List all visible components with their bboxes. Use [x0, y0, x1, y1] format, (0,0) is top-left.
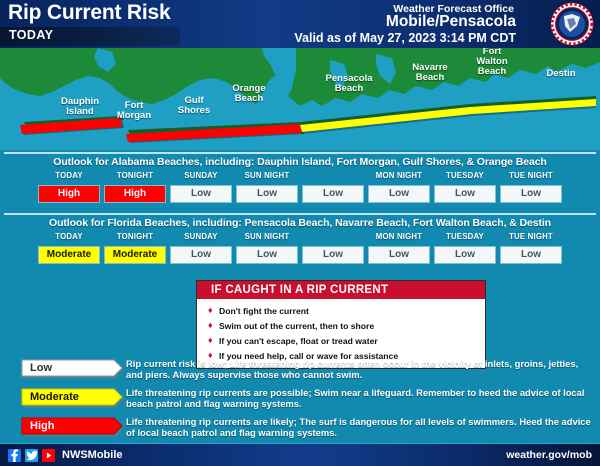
legend-description-moderate: Life threatening rip currents are possib… — [126, 387, 596, 410]
col-header: SUN NIGHT — [236, 170, 298, 183]
risk-cell: Low — [500, 246, 562, 264]
diamond-bullet-icon: ♦ — [208, 335, 213, 345]
facebook-icon[interactable] — [8, 449, 21, 462]
risk-cell: High — [104, 185, 166, 203]
outlook-alabama-values: High High Low Low Low Low Low Low — [38, 185, 562, 203]
period-label: TODAY — [9, 28, 53, 42]
legend-label-moderate: Moderate — [30, 390, 79, 404]
risk-cell: Low — [302, 246, 364, 264]
col-header: SUNDAY — [170, 231, 232, 244]
risk-cell: Low — [170, 185, 232, 203]
col-header: TUE NIGHT — [500, 170, 562, 183]
risk-cell: Moderate — [38, 246, 100, 264]
map-label-fort-walton-beach: Fort Walton Beach — [468, 48, 516, 77]
map-label-dauphin-island: Dauphin Island — [52, 97, 108, 117]
footer-bar: NWSMobile weather.gov/mob — [0, 443, 600, 466]
col-header-blank — [302, 170, 364, 183]
list-item-text: Swim out of the current, then to shore — [219, 321, 374, 331]
map-label-pensacola-beach: Pensacola Beach — [318, 74, 380, 94]
risk-cell: Low — [170, 246, 232, 264]
social-handle[interactable]: NWSMobile — [62, 449, 123, 461]
risk-cell: Low — [302, 185, 364, 203]
valid-timestamp: Valid as of May 27, 2023 3:14 PM CDT — [294, 31, 516, 45]
outlook-florida-headers: TODAY TONIGHT SUNDAY SUN NIGHT MON NIGHT… — [38, 231, 562, 244]
outlook-divider-top — [4, 152, 596, 154]
risk-legend: Low Rip current risk is low; Life threat… — [0, 357, 600, 443]
rip-current-risk-graphic: Rip Current Risk TODAY Weather Forecast … — [0, 0, 600, 466]
map-label-gulf-shores: Gulf Shores — [170, 96, 218, 116]
list-item: ♦If you can't escape, float or tread wat… — [197, 333, 485, 348]
nws-seal-icon — [550, 2, 594, 46]
col-header: MON NIGHT — [368, 170, 430, 183]
risk-cell: Low — [236, 246, 298, 264]
outlook-florida-values: Moderate Moderate Low Low Low Low Low Lo… — [38, 246, 562, 264]
legend-description-low: Rip current risk is low; Life threatenin… — [126, 358, 596, 381]
risk-cell: High — [38, 185, 100, 203]
risk-cell: Low — [434, 185, 496, 203]
website-url[interactable]: weather.gov/mob — [506, 449, 592, 461]
col-header: TONIGHT — [104, 231, 166, 244]
twitter-icon[interactable] — [25, 449, 38, 462]
list-item-text: If you can't escape, float or tread wate… — [219, 336, 378, 346]
col-header: TUE NIGHT — [500, 231, 562, 244]
col-header: SUN NIGHT — [236, 231, 298, 244]
diamond-bullet-icon: ♦ — [208, 305, 213, 315]
list-item-text: Don't fight the current — [219, 306, 309, 316]
outlook-florida-title: Outlook for Florida Beaches, including: … — [0, 217, 600, 229]
outlook-florida: Outlook for Florida Beaches, including: … — [0, 213, 600, 264]
legend-row-moderate: Moderate Life threatening rip currents a… — [0, 386, 600, 414]
list-item: ♦Swim out of the current, then to shore — [197, 318, 485, 333]
outlook-alabama: Outlook for Alabama Beaches, including: … — [0, 152, 600, 203]
youtube-icon[interactable] — [42, 449, 55, 462]
map-label-orange-beach: Orange Beach — [222, 84, 276, 104]
col-header: SUNDAY — [170, 170, 232, 183]
col-header: TODAY — [38, 170, 100, 183]
list-item: ♦Don't fight the current — [197, 303, 485, 318]
outlook-alabama-title: Outlook for Alabama Beaches, including: … — [0, 156, 600, 168]
legend-row-low: Low Rip current risk is low; Life threat… — [0, 357, 600, 385]
map-label-navarre-beach: Navarre Beach — [404, 63, 456, 83]
office-name: Mobile/Pensacola — [386, 13, 516, 31]
outlook-alabama-headers: TODAY TONIGHT SUNDAY SUN NIGHT MON NIGHT… — [38, 170, 562, 183]
risk-cell: Moderate — [104, 246, 166, 264]
map-label-destin: Destin — [540, 69, 582, 79]
risk-cell: Low — [434, 246, 496, 264]
if-caught-heading: IF CAUGHT IN A RIP CURRENT — [197, 281, 485, 299]
risk-cell: Low — [368, 246, 430, 264]
col-header: TONIGHT — [104, 170, 166, 183]
header-bar: Rip Current Risk TODAY Weather Forecast … — [0, 0, 600, 48]
legend-label-high: High — [30, 419, 54, 433]
map-label-fort-morgan: Fort Morgan — [108, 101, 160, 121]
page-title: Rip Current Risk — [8, 1, 171, 25]
legend-description-high: Life threatening rip currents are likely… — [126, 416, 596, 439]
col-header: MON NIGHT — [368, 231, 430, 244]
col-header: TUESDAY — [434, 170, 496, 183]
risk-cell: Low — [500, 185, 562, 203]
if-caught-panel: IF CAUGHT IN A RIP CURRENT ♦Don't fight … — [196, 280, 486, 369]
coastal-risk-map: Dauphin Island Fort Morgan Gulf Shores O… — [0, 48, 600, 150]
col-header: TODAY — [38, 231, 100, 244]
outlook-divider-mid — [4, 213, 596, 215]
legend-row-high: High Life threatening rip currents are l… — [0, 415, 600, 443]
diamond-bullet-icon: ♦ — [208, 320, 213, 330]
col-header-blank — [302, 231, 364, 244]
risk-cell: Low — [368, 185, 430, 203]
col-header: TUESDAY — [434, 231, 496, 244]
risk-cell: Low — [236, 185, 298, 203]
legend-label-low: Low — [30, 361, 52, 375]
